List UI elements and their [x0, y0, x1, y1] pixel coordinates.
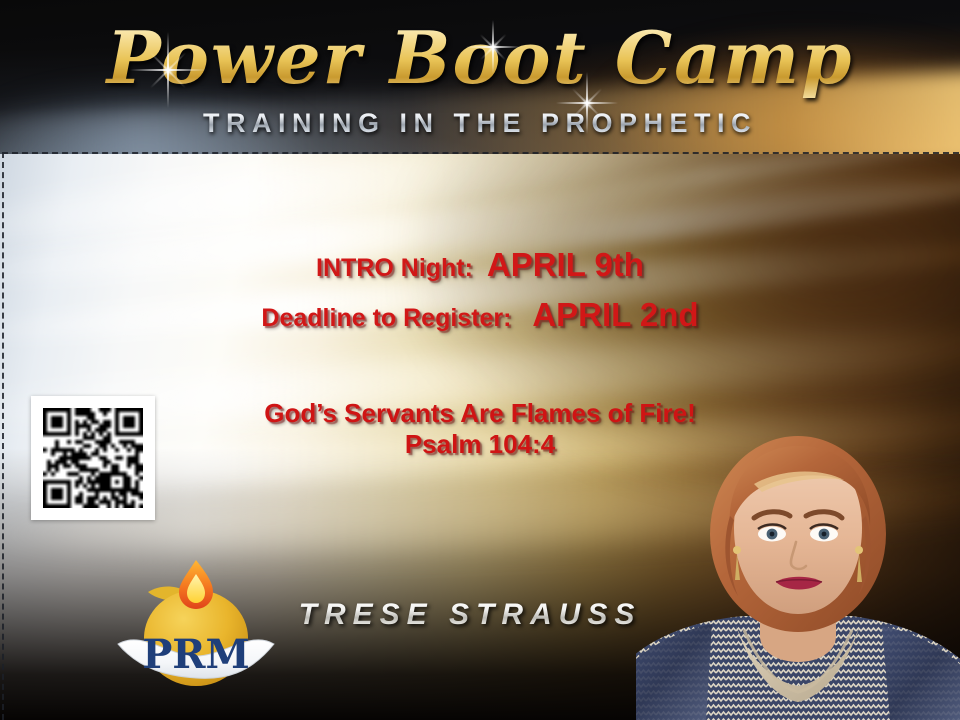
qr-code[interactable] — [31, 396, 155, 520]
intro-night-label: INTRO Night: — [316, 254, 473, 282]
logo-monogram: PRM — [142, 631, 250, 678]
page-title: Power Boot Camp — [0, 18, 960, 98]
deadline-label: Deadline to Register: — [261, 304, 511, 332]
presentation-slide: Power Boot Camp TRAINING IN THE PROPHETI… — [0, 0, 960, 720]
intro-night-line: INTRO Night: APRIL 9th — [0, 248, 960, 285]
deadline-date: APRIL 2nd — [532, 296, 698, 333]
speaker-portrait — [636, 430, 960, 720]
header-banner: Power Boot Camp TRAINING IN THE PROPHETI… — [0, 0, 960, 154]
portrait-garment-left — [636, 624, 712, 720]
scripture-text: God’s Servants Are Flames of Fire! — [60, 398, 900, 429]
intro-night-date: APRIL 9th — [487, 246, 644, 283]
deadline-line: Deadline to Register: APRIL 2nd — [0, 298, 960, 335]
speaker-name: TRESE STRAUSS — [250, 598, 690, 632]
portrait-garment-right — [882, 626, 960, 720]
page-subtitle: TRAINING IN THE PROPHETIC — [0, 108, 960, 138]
qr-code-image — [43, 408, 143, 508]
